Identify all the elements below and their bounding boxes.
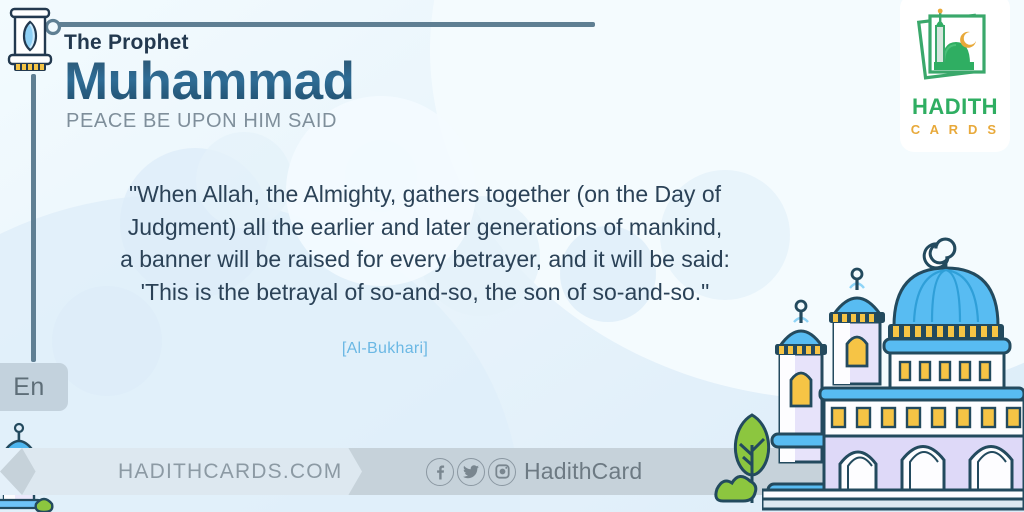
card-header: The Prophet Muhammad PEACE BE UPON HIM S…: [64, 32, 584, 131]
twitter-icon[interactable]: [457, 458, 485, 486]
facebook-icon[interactable]: [426, 458, 454, 486]
quote-line: a banner will be raised for every betray…: [40, 243, 810, 276]
social-links: HadithCard: [426, 448, 642, 495]
language-badge-label: En: [13, 373, 45, 402]
social-handle-text: HadithCard: [524, 458, 642, 485]
mosque-photo-cards-icon: [914, 6, 996, 93]
quote-line: Judgment) all the earlier and later gene…: [40, 211, 810, 244]
hadith-source: [Al-Bukhari]: [40, 340, 730, 358]
page-title: Muhammad: [64, 55, 584, 109]
hadith-quote: "When Allah, the Almighty, gathers toget…: [40, 178, 810, 309]
lantern-icon: [5, 5, 65, 81]
quote-line: 'This is the betrayal of so-and-so, the …: [40, 276, 810, 309]
mosque-illustration: [762, 222, 1024, 512]
subtitle-text: PEACE BE UPON HIM SAID: [66, 111, 584, 131]
logo-name-top: HADITH: [912, 96, 998, 118]
logo-name-bottom: C A R D S: [911, 123, 1000, 136]
eyebrow-text: The Prophet: [64, 32, 584, 53]
language-badge[interactable]: En: [0, 363, 68, 411]
footer-domain-text[interactable]: HADITHCARDS.COM: [118, 448, 343, 495]
hadith-card: The Prophet Muhammad PEACE BE UPON HIM S…: [0, 0, 1024, 512]
brand-logo[interactable]: HADITH C A R D S: [900, 0, 1010, 152]
hanging-rod-vertical: [31, 74, 36, 362]
quote-line: "When Allah, the Almighty, gathers toget…: [40, 178, 810, 211]
hanging-rod-horizontal: [58, 22, 595, 27]
instagram-icon[interactable]: [488, 458, 516, 486]
